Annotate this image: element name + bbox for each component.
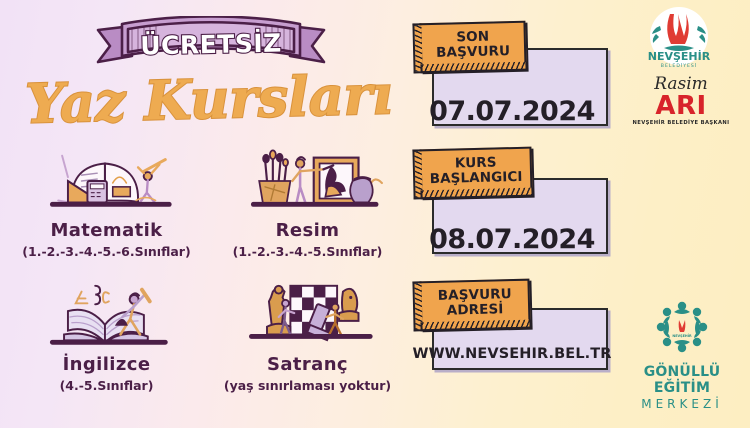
course-grid: Matematik (1.-2.-3.-4.-5.-6.Sınıflar): [8, 144, 406, 406]
address-tag-line2: ADRESİ: [424, 302, 526, 320]
course-card-matematik: Matematik (1.-2.-3.-4.-5.-6.Sınıflar): [8, 144, 205, 272]
page-title: Yaz Kursları: [13, 67, 404, 131]
volunteer-center-title: GÖNÜLLÜ EĞİTİM: [626, 364, 738, 396]
course-card-ingilizce: İngilizce (4.-5.Sınıflar): [8, 278, 205, 406]
logo-column: NEVŞEHİR BELEDİYESİ Rasim ARI NEVŞEHİR B…: [612, 0, 750, 428]
deadline-tag: SON BAŞVURU: [419, 21, 526, 73]
start-tag-line2: BAŞLANGICI: [424, 170, 528, 188]
english-book-abc-icon: [29, 278, 185, 352]
course-card-satranc: Satranç (yaş sınırlaması yoktur): [209, 278, 406, 406]
mayor-signature: Rasim ARI NEVŞEHİR BELEDİYE BAŞKANI: [626, 76, 736, 126]
info-column: 07.07.2024 SON BAŞVURU 08.07.2024 KURS B…: [412, 22, 612, 390]
math-book-calculator-icon: [29, 144, 185, 218]
volunteer-education-center-logo: NEVŞEHİR: [626, 296, 738, 358]
painting-easel-icon: [230, 144, 386, 218]
info-block-start: 08.07.2024 KURS BAŞLANGICI: [412, 148, 612, 266]
start-value: 08.07.2024: [412, 224, 612, 255]
poster-left-panel: ÜCRETSİZ Yaz Kursları: [0, 0, 410, 428]
address-tag: BAŞVURU ADRESİ: [419, 279, 530, 331]
mayor-last-name: ARI: [626, 93, 736, 119]
course-card-resim: Resim (1.-2.-3.-4.-5.Sınıflar): [209, 144, 406, 272]
course-grades: (1.-2.-3.-4.-5.-6.Sınıflar): [22, 244, 190, 259]
course-name: Resim: [276, 220, 340, 241]
nevsehir-municipality-logo: NEVŞEHİR BELEDİYESİ: [630, 6, 728, 72]
info-block-deadline: 07.07.2024 SON BAŞVURU: [412, 22, 612, 134]
course-grades: (yaş sınırlaması yoktur): [224, 378, 391, 393]
chess-board-icon: [230, 278, 386, 352]
volunteer-education-center-logo-block: NEVŞEHİR GÖNÜLLÜ EĞİTİM MERKEZİ: [626, 296, 738, 411]
course-name: Matematik: [50, 220, 162, 241]
course-grades: (1.-2.-3.-4.-5.Sınıflar): [233, 244, 383, 259]
svg-text:NEVŞEHİR: NEVŞEHİR: [648, 49, 711, 63]
deadline-value: 07.07.2024: [412, 96, 612, 127]
mayor-role: NEVŞEHİR BELEDİYE BAŞKANI: [626, 120, 736, 126]
start-tag: KURS BAŞLANGICI: [419, 147, 532, 199]
volunteer-center-subtitle: MERKEZİ: [626, 397, 738, 411]
svg-text:BELEDİYESİ: BELEDİYESİ: [661, 62, 697, 69]
info-block-address: WWW.NEVSEHIR.BEL.TR BAŞVURU ADRESİ: [412, 280, 612, 376]
course-name: Satranç: [267, 354, 348, 375]
address-value[interactable]: WWW.NEVSEHIR.BEL.TR: [412, 346, 612, 362]
course-grades: (4.-5.Sınıflar): [60, 378, 154, 393]
course-name: İngilizce: [63, 354, 151, 375]
ribbon-label: ÜCRETSİZ: [96, 28, 327, 62]
svg-text:NEVŞEHİR: NEVŞEHİR: [672, 333, 692, 338]
deadline-tag-line2: BAŞVURU: [424, 44, 522, 61]
